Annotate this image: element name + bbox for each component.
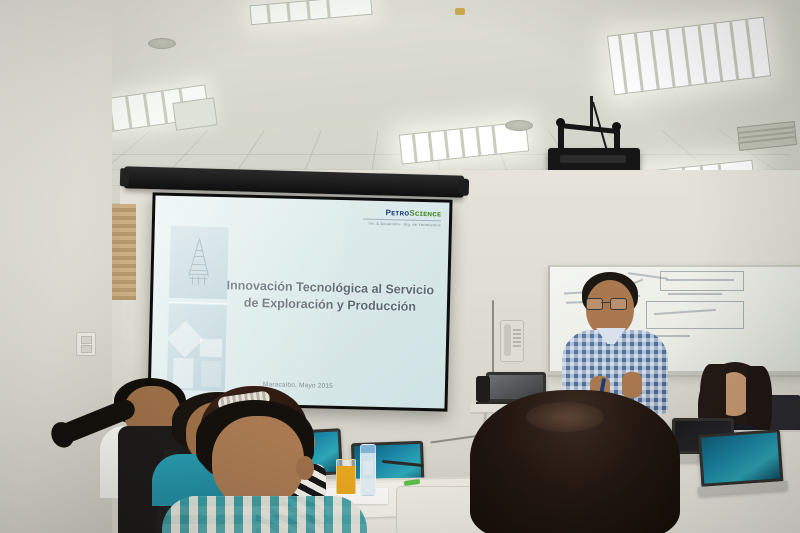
telephone-handset [504, 324, 511, 356]
slide-logo: PᴇᴛʀᴏSᴄɪᴇɴᴄᴇ Inv. & Desarrollo · Ing. de… [363, 208, 441, 229]
attendee-woman-foreground [470, 390, 680, 533]
projector-bracket-arm [558, 123, 620, 134]
left-pillar [0, 0, 112, 533]
telephone-keypad [513, 329, 521, 347]
ear [296, 456, 314, 480]
ceiling-light-fixture [249, 0, 372, 25]
projector-adjust-knob [612, 122, 621, 131]
laptop[interactable] [698, 429, 784, 497]
slide-title: Innovación Tecnológica al Servicio de Ex… [223, 277, 438, 316]
sprinkler-head [148, 38, 176, 49]
slide-title-line2: de Exploración y Producción [223, 294, 437, 316]
slide-derrick-image [169, 226, 229, 299]
hair-highlight [526, 402, 604, 432]
logo-text-primary: Pᴇᴛʀᴏ [385, 208, 409, 218]
presentation-slide: PᴇᴛʀᴏSᴄɪᴇɴᴄᴇ Inv. & Desarrollo · Ing. de… [151, 195, 450, 408]
water-bottle[interactable] [360, 444, 376, 496]
ceiling-light-fixture [607, 17, 771, 96]
light-switch-panel[interactable] [76, 332, 96, 356]
ceiling-projector [540, 96, 650, 176]
plaid-shirt [162, 496, 367, 533]
eyeglasses-icon [586, 298, 628, 308]
oil-derrick-icon [178, 236, 219, 289]
logo-tagline: Inv. & Desarrollo · Ing. de Yacimientos [363, 222, 441, 229]
wall-telephone[interactable] [500, 320, 524, 362]
ceiling-air-vent [737, 121, 797, 151]
conference-room-photo: PᴇᴛʀᴏSᴄɪᴇɴᴄᴇ Inv. & Desarrollo · Ing. de… [0, 0, 800, 533]
head [212, 416, 304, 508]
projector-adjust-knob [556, 118, 565, 127]
ceiling-marker [455, 8, 465, 15]
ceiling-light-fixture [172, 97, 217, 131]
sprinkler-head [505, 120, 533, 131]
attendee-man-plaid-shirt [168, 400, 358, 533]
logo-text-secondary: Sᴄɪᴇɴᴄᴇ [409, 209, 441, 219]
